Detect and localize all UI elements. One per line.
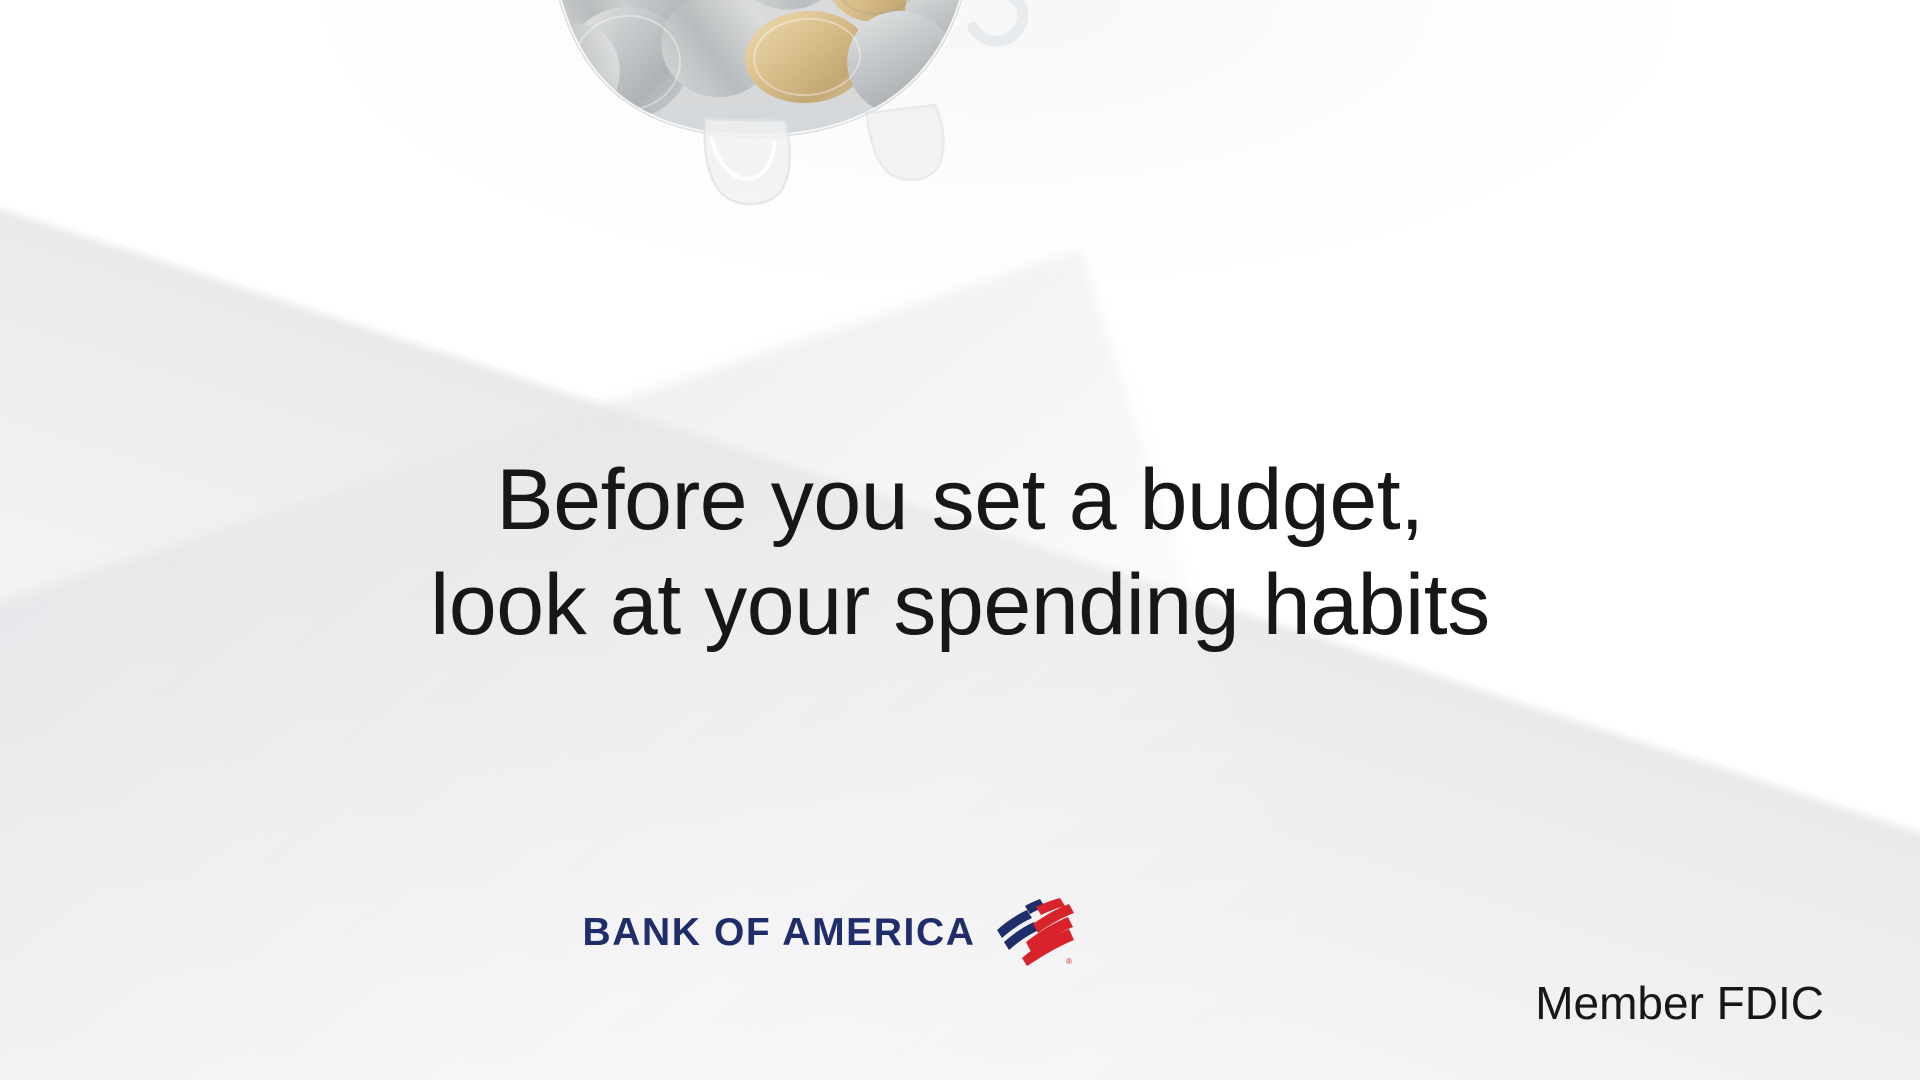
ad-canvas: Before you set a budget, look at your sp… — [0, 0, 1920, 1080]
flagscape-icon: ® — [992, 898, 1078, 966]
headline-line-2: look at your spending habits — [0, 553, 1920, 658]
brand-lockup: BANK OF AMERICA ® — [0, 898, 1920, 966]
brand-inner: BANK OF AMERICA ® — [582, 898, 1077, 966]
member-fdic-disclosure: Member FDIC — [1535, 976, 1824, 1030]
registered-mark: ® — [1066, 957, 1072, 966]
bank-of-america-wordmark: BANK OF AMERICA — [582, 913, 975, 952]
piggy-bank-photo — [455, 0, 1075, 365]
headline-line-1: Before you set a budget, — [0, 448, 1920, 553]
headline: Before you set a budget, look at your sp… — [0, 448, 1920, 658]
